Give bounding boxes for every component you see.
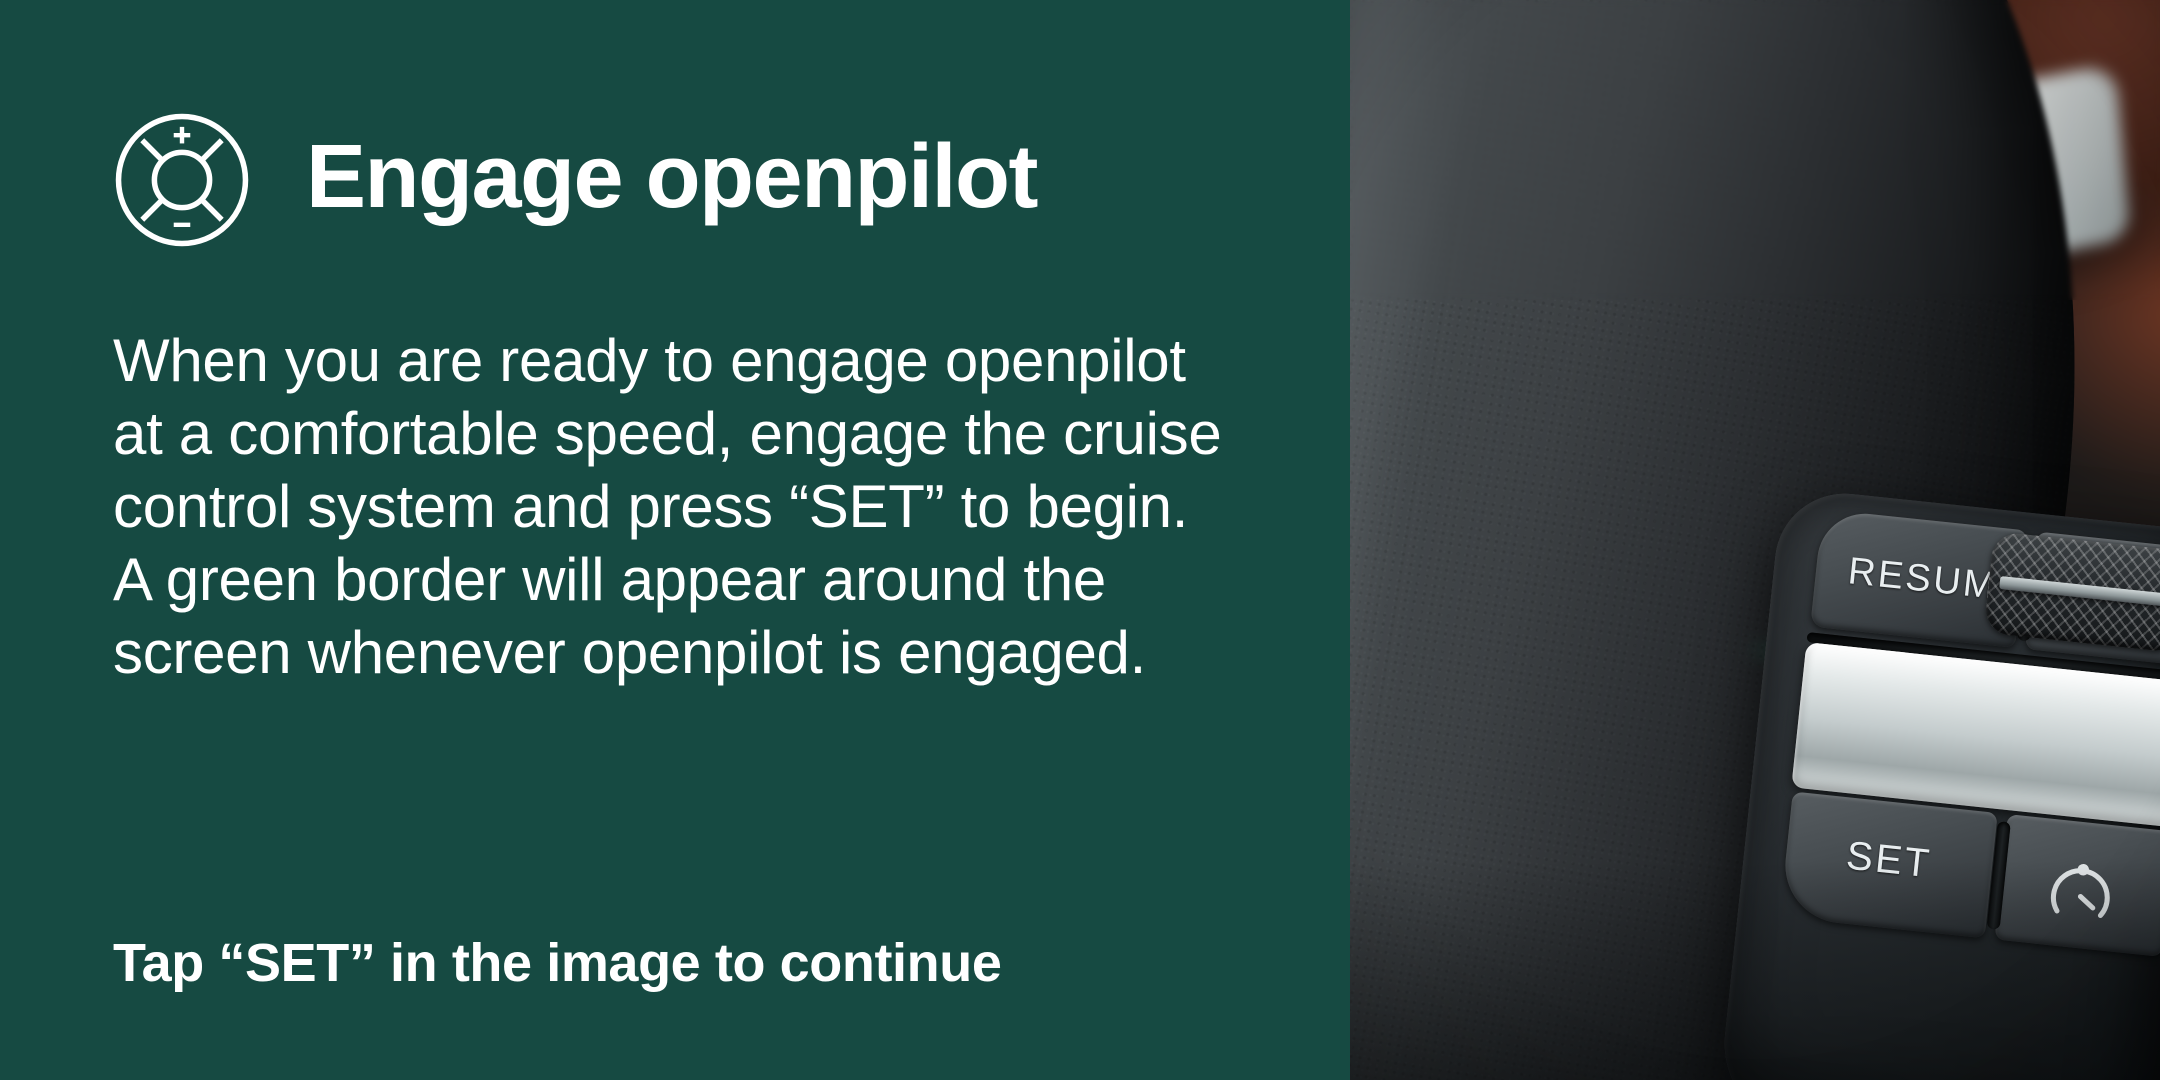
cta-instruction: Tap “SET” in the image to continue xyxy=(113,932,1001,994)
instruction-panel: Engage openpilot When you are ready to e… xyxy=(0,0,1350,1080)
page-title: Engage openpilot xyxy=(306,132,1037,222)
set-button-label: SET xyxy=(1844,834,1934,888)
body-line: control system and press “SET” to begin. xyxy=(113,470,1293,543)
following-distance-icon xyxy=(2040,852,2121,933)
body-line: at a comfortable speed, engage the cruis… xyxy=(113,397,1293,470)
openpilot-cruise-icon xyxy=(113,111,251,249)
header-row: Engage openpilot xyxy=(113,110,1350,250)
onboarding-screen: Engage openpilot When you are ready to e… xyxy=(0,0,2160,1080)
cta-row: Tap “SET” in the image to continue xyxy=(113,932,1001,994)
instruction-body: When you are ready to engage openpilot a… xyxy=(113,324,1293,689)
body-line: screen whenever openpilot is engaged. xyxy=(113,616,1293,689)
body-line: When you are ready to engage openpilot xyxy=(113,324,1293,397)
plus-glyph xyxy=(174,127,191,144)
body-line: A green border will appear around the xyxy=(113,543,1293,616)
cruise-control-button-cluster: RESUME CANCEL + SET xyxy=(1716,487,2160,1080)
steering-wheel-photo[interactable]: RESUME CANCEL + SET xyxy=(1350,0,2160,1080)
